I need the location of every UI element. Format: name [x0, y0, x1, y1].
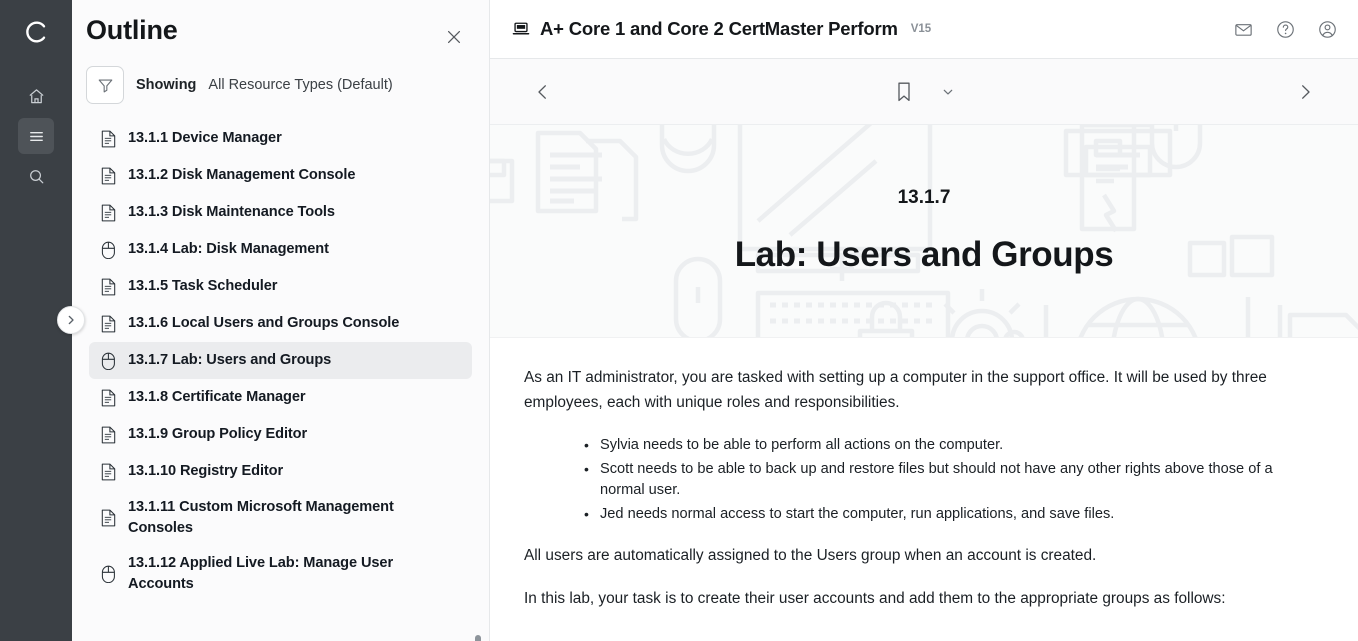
help-icon	[1275, 19, 1296, 40]
document-icon	[101, 509, 116, 527]
mouse-icon	[99, 564, 117, 584]
bookmark-dropdown-button[interactable]	[939, 83, 957, 101]
document-icon	[99, 314, 117, 334]
outline-item-label: 13.1.4 Lab: Disk Management	[128, 239, 329, 260]
hero-background-pattern	[490, 125, 1358, 338]
chevron-left-icon	[533, 82, 553, 102]
task-paragraph: In this lab, your task is to create thei…	[524, 587, 1316, 612]
outline-item[interactable]: 13.1.9 Group Policy Editor	[89, 416, 472, 453]
outline-item-label: 13.1.9 Group Policy Editor	[128, 424, 307, 445]
outline-item-label: 13.1.3 Disk Maintenance Tools	[128, 202, 335, 223]
course-topbar: A+ Core 1 and Core 2 CertMaster Perform …	[490, 0, 1358, 59]
outline-scrollbar-thumb[interactable]	[475, 635, 481, 641]
showing-label: Showing	[136, 77, 196, 93]
page-navigation-bar	[490, 59, 1358, 125]
next-page-button[interactable]	[1290, 77, 1320, 107]
document-icon	[99, 129, 117, 149]
requirements-list: Sylvia needs to be able to perform all a…	[524, 435, 1316, 526]
chevron-right-icon	[65, 314, 77, 326]
document-icon	[99, 425, 117, 445]
bookmark-icon	[894, 80, 914, 104]
icon-rail	[0, 0, 72, 641]
outline-item-label: 13.1.6 Local Users and Groups Console	[128, 313, 399, 334]
previous-page-button[interactable]	[528, 77, 558, 107]
chevron-down-icon	[941, 85, 955, 99]
document-icon	[101, 389, 116, 407]
outline-item-label: 13.1.1 Device Manager	[128, 128, 282, 149]
outline-item-label: 13.1.7 Lab: Users and Groups	[128, 350, 331, 371]
outline-item-selected[interactable]: 13.1.7 Lab: Users and Groups	[89, 342, 472, 379]
bookmark-group	[891, 78, 957, 106]
outline-item-label: 13.1.12 Applied Live Lab: Manage User Ac…	[128, 553, 462, 595]
outline-item[interactable]: 13.1.3 Disk Maintenance Tools	[89, 194, 472, 231]
page-title: Outline	[86, 16, 178, 46]
mail-button[interactable]	[1230, 16, 1256, 42]
requirement-item: Sylvia needs to be able to perform all a…	[524, 435, 1316, 456]
home-icon	[27, 87, 46, 106]
account-button[interactable]	[1314, 16, 1340, 42]
requirement-item: Jed needs normal access to start the com…	[524, 504, 1316, 525]
filter-icon	[96, 76, 115, 95]
outline-item[interactable]: 13.1.12 Applied Live Lab: Manage User Ac…	[89, 546, 472, 602]
outline-item-label: 13.1.8 Certificate Manager	[128, 387, 305, 408]
outline-item-label: 13.1.5 Task Scheduler	[128, 276, 277, 297]
outline-header: Outline	[72, 0, 489, 50]
document-icon	[101, 315, 116, 333]
document-icon	[99, 388, 117, 408]
document-icon	[101, 167, 116, 185]
mouse-icon	[99, 240, 117, 260]
mouse-icon	[99, 351, 117, 371]
note-paragraph: All users are automatically assigned to …	[524, 544, 1316, 569]
outline-list[interactable]: 13.1.1 Device Manager13.1.2 Disk Managem…	[72, 114, 489, 641]
document-icon	[99, 166, 117, 186]
rail-item-outline[interactable]	[18, 118, 54, 154]
main-content: A+ Core 1 and Core 2 CertMaster Perform …	[490, 0, 1358, 641]
lesson-body: As an IT administrator, you are tasked w…	[490, 338, 1358, 641]
document-icon	[101, 130, 116, 148]
mouse-icon	[101, 565, 116, 583]
showing-value[interactable]: All Resource Types (Default)	[208, 77, 392, 93]
close-icon	[445, 28, 463, 46]
lesson-number: 13.1.7	[898, 187, 951, 209]
account-icon	[1317, 19, 1338, 40]
laptop-icon	[512, 20, 530, 38]
document-icon	[99, 203, 117, 223]
close-outline-button[interactable]	[441, 24, 467, 50]
help-button[interactable]	[1272, 16, 1298, 42]
document-icon	[99, 508, 117, 528]
document-icon	[101, 278, 116, 296]
rail-item-search[interactable]	[18, 158, 54, 194]
document-icon	[101, 204, 116, 222]
chevron-right-icon	[1295, 82, 1315, 102]
outline-item[interactable]: 13.1.10 Registry Editor	[89, 453, 472, 490]
mouse-icon	[101, 241, 116, 259]
document-icon	[101, 426, 116, 444]
mouse-icon	[101, 352, 116, 370]
lesson-hero: 13.1.7 Lab: Users and Groups	[490, 125, 1358, 338]
outline-panel: Outline Showing All Resource Types (Defa…	[72, 0, 490, 641]
outline-item-label: 13.1.11 Custom Microsoft Management Cons…	[128, 497, 462, 539]
document-icon	[99, 277, 117, 297]
outline-item[interactable]: 13.1.4 Lab: Disk Management	[89, 231, 472, 268]
mail-icon	[1233, 19, 1254, 40]
bookmark-button[interactable]	[891, 78, 917, 106]
filter-row: Showing All Resource Types (Default)	[72, 50, 489, 114]
rail-item-home[interactable]	[18, 78, 54, 114]
version-badge: V15	[911, 23, 931, 35]
outline-item[interactable]: 13.1.5 Task Scheduler	[89, 268, 472, 305]
outline-item[interactable]: 13.1.2 Disk Management Console	[89, 157, 472, 194]
outline-item-label: 13.1.2 Disk Management Console	[128, 165, 355, 186]
outline-item[interactable]: 13.1.8 Certificate Manager	[89, 379, 472, 416]
outline-item[interactable]: 13.1.6 Local Users and Groups Console	[89, 305, 472, 342]
outline-scrollbar-track[interactable]	[479, 114, 485, 641]
app-root: Outline Showing All Resource Types (Defa…	[0, 0, 1358, 641]
outline-item-label: 13.1.10 Registry Editor	[128, 461, 283, 482]
sidebar-expand-toggle[interactable]	[57, 306, 85, 334]
outline-item[interactable]: 13.1.1 Device Manager	[89, 120, 472, 157]
topbar-icon-group	[1230, 16, 1340, 42]
menu-icon	[27, 127, 46, 146]
filter-button[interactable]	[86, 66, 124, 104]
document-icon	[101, 463, 116, 481]
requirement-item: Scott needs to be able to back up and re…	[524, 459, 1316, 501]
course-title: A+ Core 1 and Core 2 CertMaster Perform	[540, 18, 898, 40]
intro-paragraph: As an IT administrator, you are tasked w…	[524, 366, 1316, 416]
lesson-title: Lab: Users and Groups	[735, 235, 1114, 275]
c-logo[interactable]	[18, 14, 54, 50]
search-icon	[27, 167, 46, 186]
outline-item[interactable]: 13.1.11 Custom Microsoft Management Cons…	[89, 490, 472, 546]
document-icon	[99, 462, 117, 482]
course-title-group: A+ Core 1 and Core 2 CertMaster Perform …	[512, 18, 1230, 40]
